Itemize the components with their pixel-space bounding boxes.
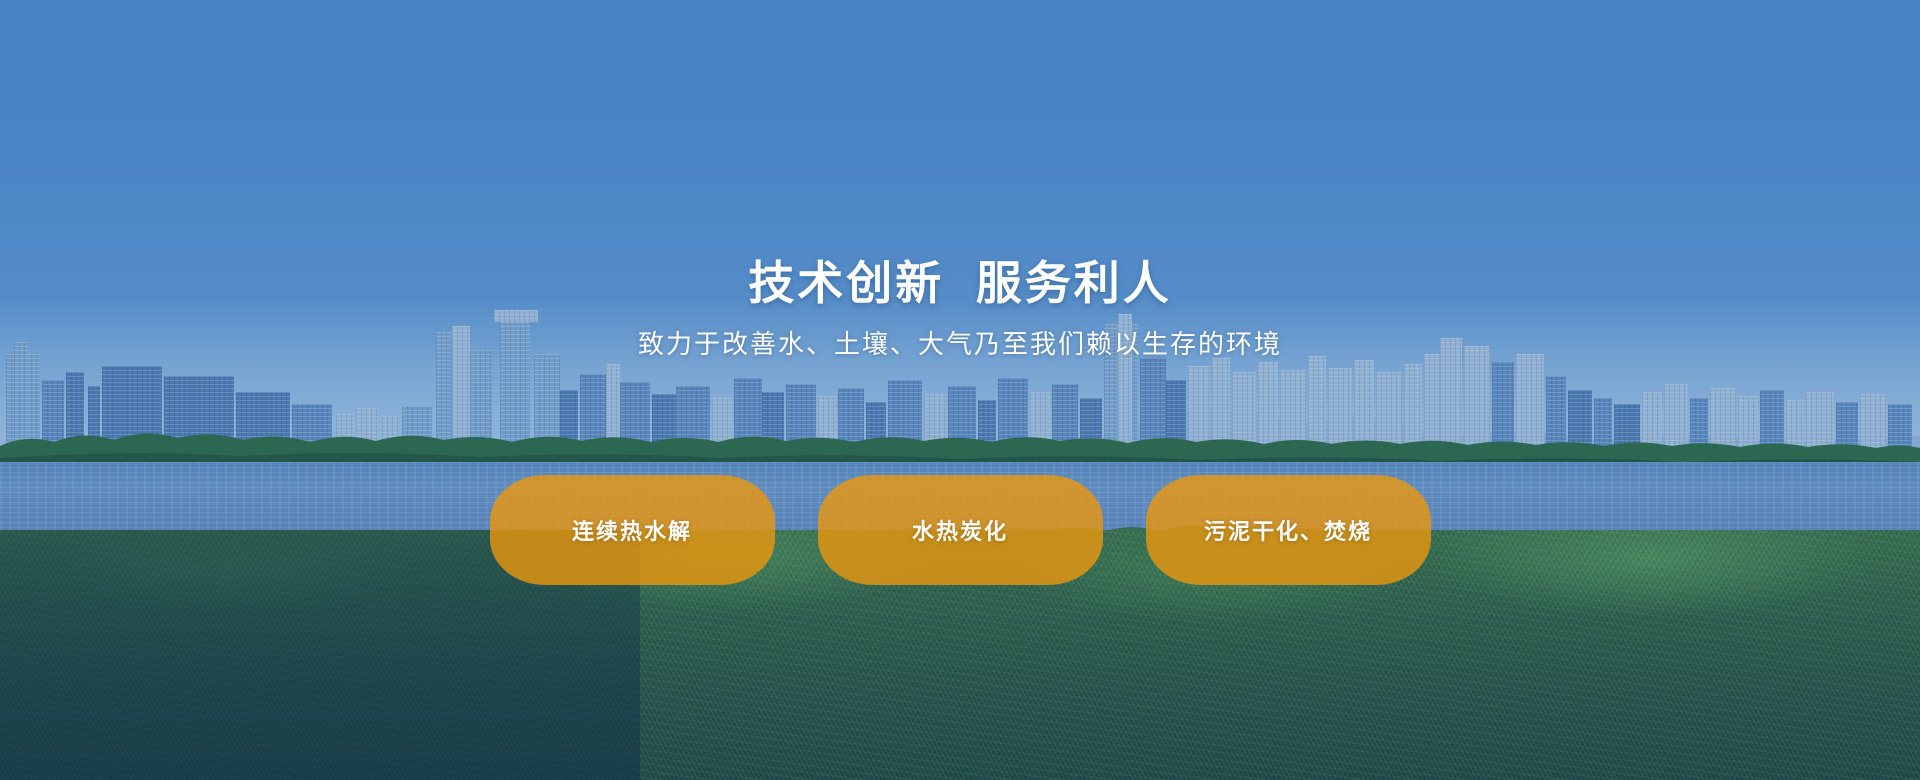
hero-content: 技术创新 服务利人 致力于改善水、土壤、大气乃至我们赖以生存的环境 — [0, 0, 1920, 780]
pill-button-continuous-thermal-hydrolysis[interactable]: 连续热水解 — [490, 475, 775, 585]
pill-button-sludge-drying-incineration[interactable]: 污泥干化、焚烧 — [1146, 475, 1431, 585]
hero-banner: 技术创新 服务利人 致力于改善水、土壤、大气乃至我们赖以生存的环境 连续热水解 … — [0, 0, 1920, 780]
service-pill-row: 连续热水解 水热炭化 污泥干化、焚烧 — [0, 475, 1920, 585]
pill-button-hydrothermal-carbonization[interactable]: 水热炭化 — [818, 475, 1103, 585]
page-title: 技术创新 服务利人 — [748, 258, 1172, 309]
page-subtitle: 致力于改善水、土壤、大气乃至我们赖以生存的环境 — [638, 329, 1282, 360]
